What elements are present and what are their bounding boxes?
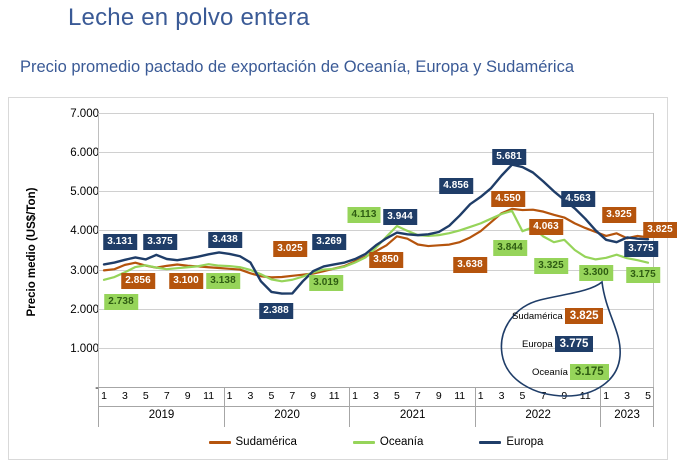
legend-label: Europa — [506, 436, 543, 448]
axis-separator — [475, 387, 476, 427]
x-tick-month: 1 — [227, 390, 233, 402]
legend-item[interactable]: Sudamérica — [209, 436, 297, 448]
callout-balloon: Sudamérica3.825Europa3.775Oceanía3.175 — [494, 280, 626, 398]
y-axis-label: Precio medio (US$/Ton) — [26, 137, 38, 367]
data-label: 3.138 — [206, 273, 240, 289]
legend-item[interactable]: Oceanía — [353, 436, 423, 448]
x-tick-month: 1 — [478, 390, 484, 402]
legend-swatch-icon — [353, 441, 375, 444]
x-tick-month: 5 — [394, 390, 400, 402]
legend-item[interactable]: Europa — [479, 436, 543, 448]
callout-row: Europa3.775 — [522, 336, 593, 352]
data-label: 4.063 — [529, 219, 563, 235]
x-tick-month: 5 — [143, 390, 149, 402]
x-tick-month: 7 — [289, 390, 295, 402]
legend-swatch-icon — [479, 441, 501, 444]
data-label: 3.825 — [643, 222, 677, 238]
x-tick-month: 11 — [454, 390, 465, 402]
x-axis-year: 2020 — [274, 409, 300, 421]
axis-separator — [349, 387, 350, 427]
callout-row: Sudamérica3.825 — [512, 308, 603, 324]
x-tick-month: 3 — [248, 390, 254, 402]
x-axis-year: 2019 — [149, 409, 175, 421]
x-tick-month: 11 — [203, 390, 214, 402]
data-label: 4.550 — [491, 191, 525, 207]
callout-series-value: 3.175 — [570, 364, 609, 380]
data-label: 5.681 — [492, 149, 526, 165]
x-axis-mid-rule — [98, 406, 654, 407]
data-label: 3.300 — [579, 265, 613, 281]
axis-separator — [98, 387, 99, 427]
x-axis-year: 2023 — [614, 409, 640, 421]
x-tick-month: 1 — [101, 390, 107, 402]
data-label: 4.563 — [561, 191, 595, 207]
data-label: 3.844 — [493, 240, 527, 256]
data-label: 3.269 — [312, 234, 346, 250]
x-tick-month: 7 — [164, 390, 170, 402]
data-label: 4.113 — [348, 207, 381, 223]
data-label: 3.638 — [453, 257, 487, 273]
x-tick-month: 5 — [645, 390, 651, 402]
y-tick-label: 4.000 — [43, 225, 99, 237]
callout-series-value: 3.775 — [555, 336, 594, 352]
callout-series-name: Oceanía — [532, 367, 568, 378]
data-label: 3.175 — [626, 267, 660, 283]
y-axis-ticks: 7.0006.0005.0004.0003.0002.0001.000- — [43, 98, 99, 459]
data-label: 3.925 — [602, 207, 636, 223]
legend-label: Sudamérica — [236, 436, 297, 448]
x-tick-month: 11 — [329, 390, 340, 402]
page-title: Leche en polvo entera — [68, 4, 310, 32]
data-label: 3.850 — [369, 252, 403, 268]
axis-separator — [653, 387, 654, 427]
x-tick-month: 7 — [415, 390, 421, 402]
x-tick-month: 3 — [373, 390, 379, 402]
data-label: 2.388 — [259, 303, 293, 319]
x-tick-month: 3 — [122, 390, 128, 402]
legend-label: Oceanía — [380, 436, 423, 448]
data-label: 3.025 — [273, 241, 307, 257]
data-label: 3.100 — [169, 273, 203, 289]
x-tick-month: 9 — [185, 390, 191, 402]
page-subtitle: Precio promedio pactado de exportación d… — [20, 58, 574, 77]
data-label: 3.131 — [103, 234, 137, 250]
callout-series-name: Europa — [522, 339, 553, 350]
y-tick-label: 6.000 — [43, 147, 99, 159]
chart-legend: SudaméricaOceaníaEuropa — [98, 432, 654, 452]
x-tick-month: 9 — [436, 390, 442, 402]
data-label: 2.856 — [121, 273, 155, 289]
data-label: 2.738 — [104, 294, 138, 310]
y-tick-label: 1.000 — [43, 343, 99, 355]
axis-separator — [224, 387, 225, 427]
data-label: 3.775 — [624, 241, 658, 257]
x-tick-month: 9 — [310, 390, 316, 402]
x-tick-month: 1 — [352, 390, 358, 402]
data-label: 3.375 — [143, 234, 177, 250]
data-label: 3.438 — [208, 232, 242, 248]
callout-row: Oceanía3.175 — [532, 364, 609, 380]
data-label: 4.856 — [439, 178, 473, 194]
y-tick-label: 3.000 — [43, 265, 99, 277]
y-tick-label: 5.000 — [43, 186, 99, 198]
x-axis-year: 2022 — [525, 409, 551, 421]
y-tick-label: 7.000 — [43, 108, 99, 120]
data-label: 3.019 — [309, 275, 343, 291]
callout-series-value: 3.825 — [565, 308, 604, 324]
data-label: 3.944 — [383, 209, 417, 225]
callout-series-name: Sudamérica — [512, 311, 563, 322]
y-tick-label: 2.000 — [43, 304, 99, 316]
y-tick-label: - — [43, 382, 99, 394]
legend-swatch-icon — [209, 441, 231, 444]
x-axis-year: 2021 — [400, 409, 426, 421]
x-tick-month: 5 — [268, 390, 274, 402]
data-label: 3.325 — [534, 258, 568, 274]
